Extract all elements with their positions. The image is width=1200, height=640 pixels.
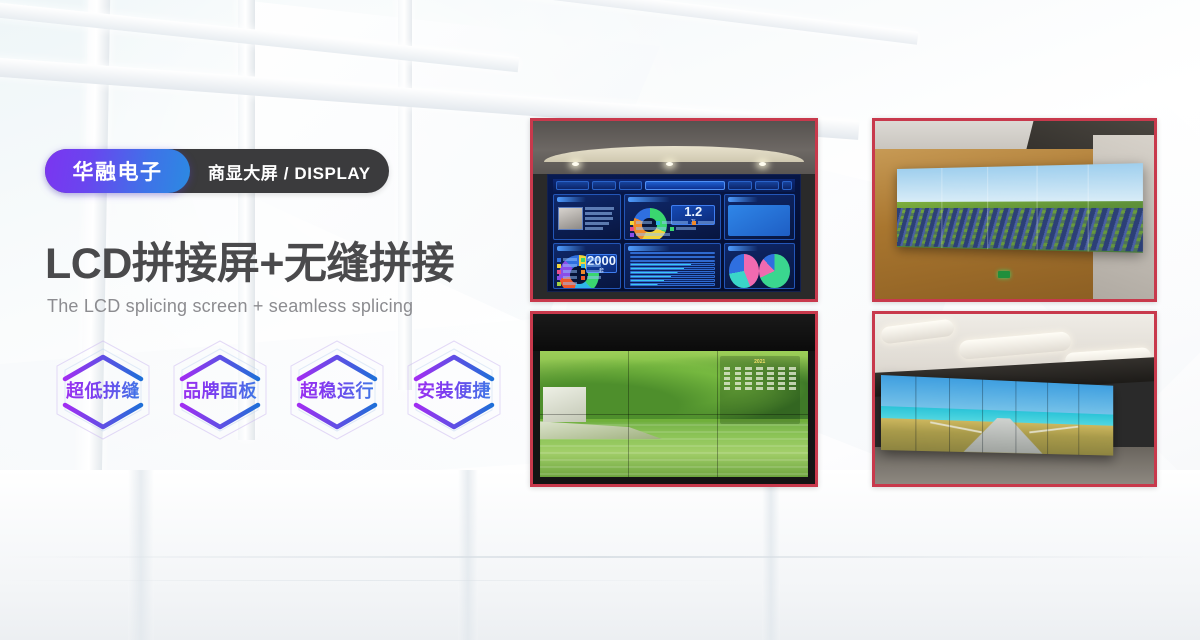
dashboard-topbar — [553, 179, 795, 192]
floor-column — [762, 470, 780, 640]
spotlight — [759, 162, 766, 166]
feature-label: 超稳运行 — [300, 377, 374, 403]
screen-bezel-top — [533, 314, 815, 351]
badge-category-label: 商显大屏 / DISPLAY — [208, 159, 371, 184]
video-wall-screen: 2021 — [540, 351, 808, 477]
brand-name: 华融电子 — [73, 156, 163, 186]
photo-solar-farm-video-wall[interactable] — [872, 118, 1157, 302]
calendar-title: 2021 — [724, 359, 796, 365]
brand-pill: 华融电子 — [45, 149, 190, 193]
video-wall-screen — [897, 163, 1142, 253]
page-title: LCD拼接屏+无缝拼接 — [45, 229, 454, 291]
dashboard-card-pies — [724, 243, 795, 289]
dashboard-grid: 1.2 万 — [553, 194, 795, 289]
headline-block: 华融电子 商显大屏 / DISPLAY LCD拼接屏+无缝拼接 The LCD … — [45, 0, 525, 640]
dashboard-card-donut-count: 2000 套 — [553, 243, 621, 289]
video-wall-screen — [881, 375, 1113, 455]
photo-dashboard-video-wall[interactable]: 1.2 万 — [530, 118, 818, 302]
dashboard-stat-primary: 1.2 — [684, 205, 702, 218]
feature-item-1[interactable]: 品牌面板 — [168, 335, 272, 445]
dashboard-card-flow — [724, 194, 795, 240]
photo-content — [875, 314, 1154, 484]
photo-beach-boardwalk-video-wall[interactable] — [872, 311, 1157, 487]
dashboard-card-image — [553, 194, 621, 240]
spotlight — [666, 162, 673, 166]
video-wall-screen: 1.2 万 — [547, 174, 801, 291]
feature-list: 超低拼缝 品牌面板 超稳运行 — [51, 335, 506, 445]
page-subtitle: The LCD splicing screen + seamless splic… — [47, 296, 413, 317]
photo-content: 1.2 万 — [533, 121, 815, 299]
photo-garden-video-wall[interactable]: 2021 — [530, 311, 818, 487]
photo-content — [875, 121, 1154, 299]
feature-item-3[interactable]: 安装便捷 — [402, 335, 506, 445]
photo-content: 2021 — [533, 314, 815, 484]
feature-item-0[interactable]: 超低拼缝 — [51, 335, 155, 445]
brand-badge: 华融电子 商显大屏 / DISPLAY — [45, 149, 389, 193]
feature-label: 超低拼缝 — [66, 377, 140, 403]
feature-item-2[interactable]: 超稳运行 — [285, 335, 389, 445]
feature-label: 安装便捷 — [417, 377, 491, 403]
exit-sign — [998, 271, 1010, 278]
dashboard-card-donut-stat: 1.2 万 — [624, 194, 721, 240]
feature-label: 品牌面板 — [183, 377, 257, 403]
dashboard-card-bars — [624, 243, 721, 289]
